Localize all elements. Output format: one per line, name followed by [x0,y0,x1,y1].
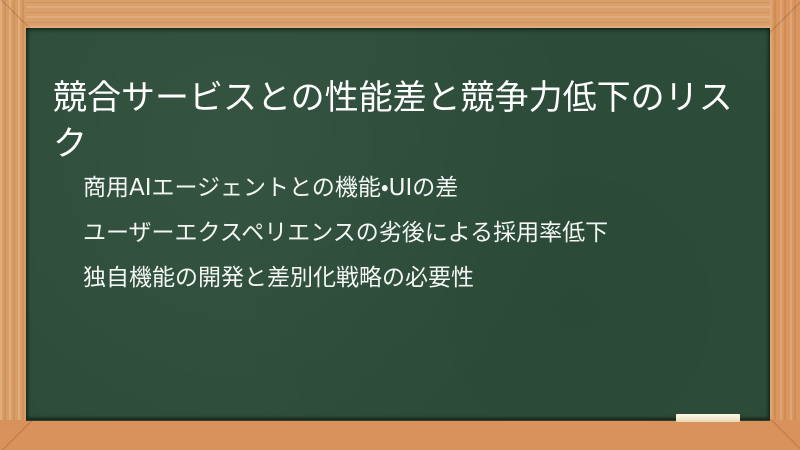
bullet-item-2: ユーザーエクスペリエンスの劣後による採用率低下 [83,217,769,249]
chalk-stick-icon [676,414,740,422]
bullet-list: 商用AIエージェントとの機能・UIの差 ユーザーエクスペリエンスの劣後による採用… [83,172,769,307]
bullet-item-3: 独自機能の開発と差別化戦略の必要性 [83,262,769,294]
frame-stile-left [0,0,26,450]
chalkboard-slide: 競合サービスとの性能差と競争力低下のリスク 商用AIエージェントとの機能・UIの… [0,0,800,450]
bullet-item-1: 商用AIエージェントとの機能・UIの差 [83,172,769,204]
frame-rail-bottom [0,420,800,450]
chalkboard-surface: 競合サービスとの性能差と競争力低下のリスク 商用AIエージェントとの機能・UIの… [26,28,770,420]
frame-rail-top [0,0,800,28]
board-bottom-edge [26,418,770,421]
frame-stile-right [770,0,800,450]
slide-title: 競合サービスとの性能差と競争力低下のリスク [53,75,753,167]
